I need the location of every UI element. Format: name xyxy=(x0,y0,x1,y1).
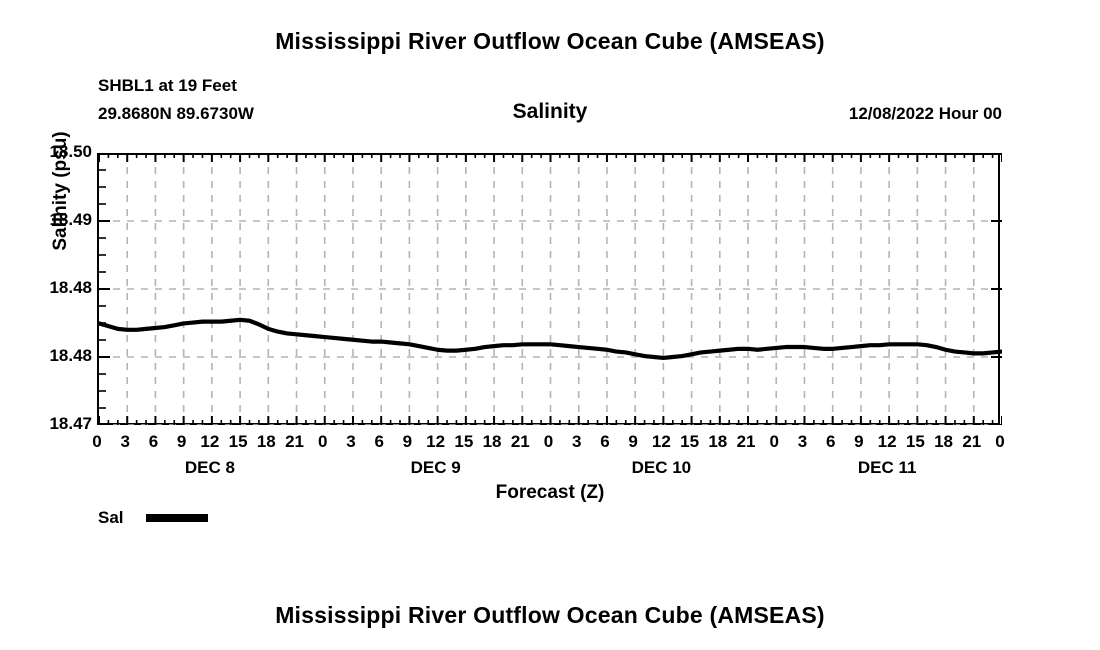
x-axis-tick-label: 18 xyxy=(929,432,959,452)
x-axis-tick-label: 15 xyxy=(223,432,253,452)
datestamp-label: 12/08/2022 Hour 00 xyxy=(849,104,1002,124)
x-axis-tick-label: 12 xyxy=(421,432,451,452)
y-axis-tick-label: 18.48 xyxy=(49,278,92,298)
x-axis-tick-label: 6 xyxy=(590,432,620,452)
x-axis-tick-label: 15 xyxy=(900,432,930,452)
x-axis-tick-label: 18 xyxy=(477,432,507,452)
y-axis-tick-label: 18.47 xyxy=(49,414,92,434)
legend-swatch-sal xyxy=(146,514,208,522)
x-axis-tick-label: 9 xyxy=(844,432,874,452)
x-axis-tick-label: 21 xyxy=(280,432,310,452)
x-axis-tick-label: 0 xyxy=(534,432,564,452)
y-axis-tick-label: 18.48 xyxy=(49,346,92,366)
y-axis-tick-label: 18.50 xyxy=(49,142,92,162)
x-axis-tick-label: 6 xyxy=(364,432,394,452)
x-axis-day-label: DEC 11 xyxy=(827,458,947,478)
x-axis-tick-label: 0 xyxy=(82,432,112,452)
x-axis-tick-label: 6 xyxy=(138,432,168,452)
x-axis-tick-label: 9 xyxy=(392,432,422,452)
x-axis-tick-label: 9 xyxy=(618,432,648,452)
chart-page: Mississippi River Outflow Ocean Cube (AM… xyxy=(0,0,1100,650)
x-axis-tick-label: 0 xyxy=(759,432,789,452)
x-axis-tick-label: 0 xyxy=(985,432,1015,452)
station-label: SHBL1 at 19 Feet xyxy=(98,76,237,96)
legend-label-sal: Sal xyxy=(98,508,124,528)
x-axis-tick-label: 18 xyxy=(703,432,733,452)
x-axis-tick-label: 12 xyxy=(872,432,902,452)
legend: Sal xyxy=(98,508,208,528)
x-axis-tick-label: 15 xyxy=(675,432,705,452)
x-axis-day-label: DEC 10 xyxy=(601,458,721,478)
x-axis-tick-label: 21 xyxy=(505,432,535,452)
x-axis-tick-label: 3 xyxy=(787,432,817,452)
x-axis-tick-label: 21 xyxy=(731,432,761,452)
plot-area xyxy=(97,153,1000,425)
y-axis-tick-label: 18.49 xyxy=(49,210,92,230)
x-axis-tick-label: 9 xyxy=(167,432,197,452)
x-axis-label: Forecast (Z) xyxy=(0,482,1100,504)
page-title-top: Mississippi River Outflow Ocean Cube (AM… xyxy=(0,28,1100,55)
x-axis-tick-label: 18 xyxy=(251,432,281,452)
x-axis-day-label: DEC 9 xyxy=(376,458,496,478)
x-axis-tick-label: 3 xyxy=(110,432,140,452)
salinity-line-chart xyxy=(99,153,1002,425)
page-title-bottom: Mississippi River Outflow Ocean Cube (AM… xyxy=(0,602,1100,629)
x-axis-tick-label: 12 xyxy=(195,432,225,452)
x-axis-tick-label: 21 xyxy=(957,432,987,452)
x-axis-day-label: DEC 8 xyxy=(150,458,270,478)
x-axis-tick-label: 3 xyxy=(562,432,592,452)
x-axis-tick-label: 3 xyxy=(336,432,366,452)
x-axis-tick-label: 0 xyxy=(308,432,338,452)
x-axis-tick-label: 12 xyxy=(646,432,676,452)
x-axis-tick-label: 15 xyxy=(449,432,479,452)
x-axis-tick-label: 6 xyxy=(816,432,846,452)
